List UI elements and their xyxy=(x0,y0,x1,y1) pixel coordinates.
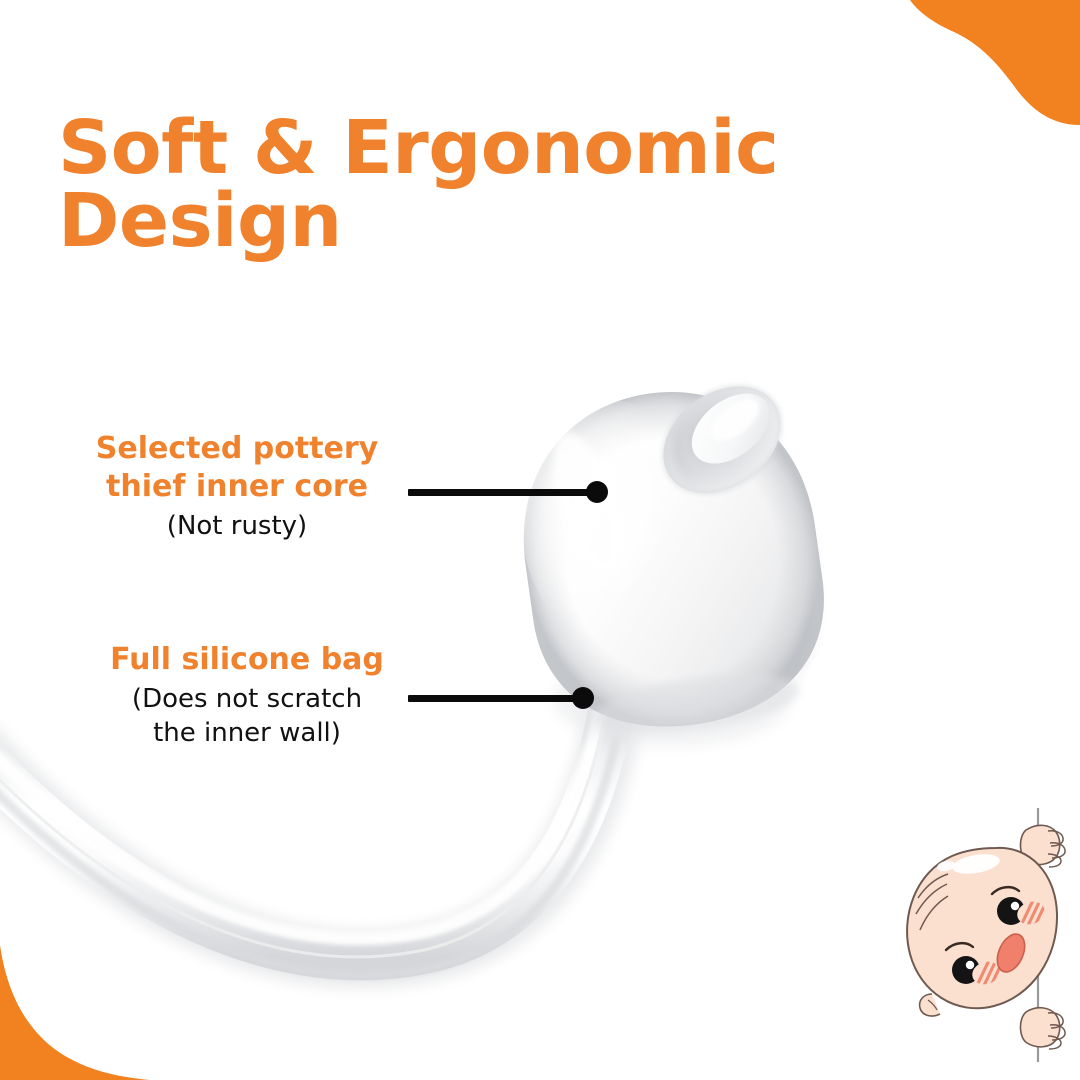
baby-mascot xyxy=(880,790,1080,1080)
leader-dot xyxy=(572,687,594,709)
callout-subtitle: (Not rusty) xyxy=(72,510,402,544)
baby-hand-lower xyxy=(1020,1008,1065,1049)
leader-line-stroke xyxy=(408,695,580,702)
callout-subtitle: (Does not scratch the inner wall) xyxy=(82,683,412,751)
leader-line-stroke xyxy=(408,489,594,496)
corner-blob-top-right xyxy=(910,0,1080,125)
callout-selected-pottery-thief-inner-core: Selected pottery thief inner core (Not r… xyxy=(72,430,402,544)
leader-dot xyxy=(586,481,608,503)
head-cavity-opening xyxy=(634,358,810,522)
callout-full-silicone-bag: Full silicone bag (Does not scratch the … xyxy=(82,641,412,751)
callout-title: Full silicone bag xyxy=(82,641,412,679)
leader-line-silicone-bag xyxy=(408,687,594,709)
infographic-canvas: Soft & Ergonomic Design Selected pottery… xyxy=(0,0,1080,1080)
leader-line-inner-core xyxy=(408,481,608,503)
callout-title: Selected pottery thief inner core xyxy=(72,430,402,506)
silicone-handle xyxy=(0,712,620,975)
baby-head xyxy=(907,848,1057,1016)
corner-blob-bottom-left xyxy=(0,945,150,1080)
page-title: Soft & Ergonomic Design xyxy=(58,112,818,257)
